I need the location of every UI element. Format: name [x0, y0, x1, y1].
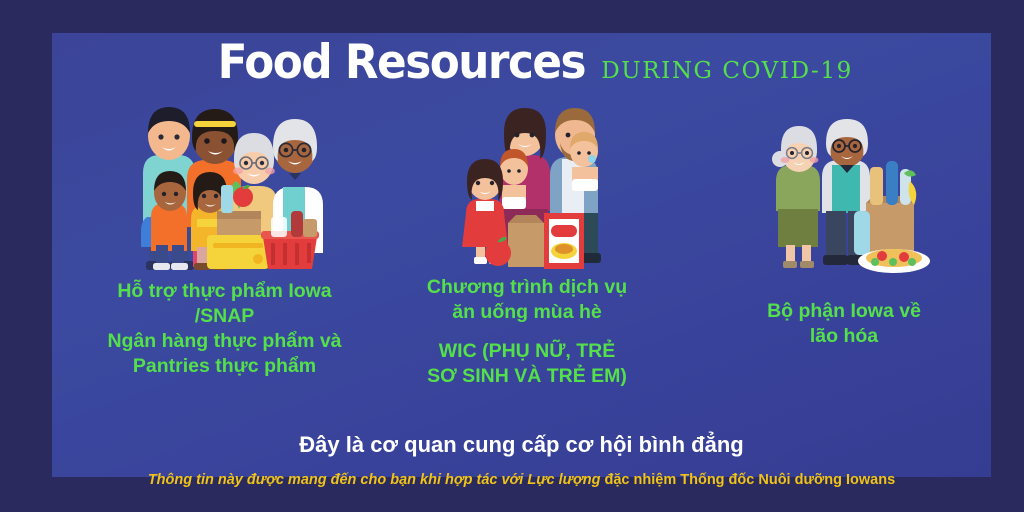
- caption-line: ăn uống mùa hè: [452, 301, 602, 323]
- poster-root: Food Resources DURING COVID-19: [0, 0, 1024, 512]
- caption-line: SƠ SINH VÀ TRẺ EM): [427, 365, 627, 387]
- caption-line: Chương trình dịch vụ: [427, 276, 627, 298]
- family-with-children-and-cereal-illustration: [432, 101, 622, 269]
- resource-caption-summer-meals: Chương trình dịch vụăn uống mùa hè: [377, 275, 677, 325]
- resource-column-aging: Bộ phận Iowa vềlão hóa: [697, 115, 991, 349]
- caption-line: WIC (PHỤ NỮ, TRẺ: [439, 340, 616, 362]
- equal-opportunity-statement: Đây là cơ quan cung cấp cơ hội bình đẳng: [52, 433, 991, 457]
- family-with-groceries-illustration: [125, 93, 325, 271]
- caption-line: Ngân hàng thực phẩm và: [107, 330, 341, 352]
- resource-caption-wic: WIC (PHỤ NỮ, TRẺSƠ SINH VÀ TRẺ EM): [377, 339, 677, 389]
- page-title: Food Resources: [218, 39, 585, 86]
- caption-line: Hỗ trợ thực phẩm Iowa: [117, 280, 331, 302]
- poster-header: Food Resources DURING COVID-19: [52, 39, 991, 86]
- resource-columns: Hỗ trợ thực phẩm Iowa/SNAPNgân hàng thực…: [52, 93, 991, 423]
- partnership-credit: Thông tin này được mang đến cho bạn khi …: [52, 473, 991, 489]
- partnership-credit-upright: đặc nhiệm Thống đốc Nuôi dưỡng Iowans: [605, 472, 896, 488]
- resource-caption-food-assistance: Hỗ trợ thực phẩm Iowa/SNAPNgân hàng thực…: [52, 279, 397, 379]
- senior-couple-with-grocery-bag-illustration: [754, 115, 934, 277]
- resource-column-food-assistance: Hỗ trợ thực phẩm Iowa/SNAPNgân hàng thực…: [52, 93, 397, 379]
- caption-line: Pantries thực phẩm: [133, 355, 316, 377]
- resource-column-summer-meals: Chương trình dịch vụăn uống mùa hè WIC (…: [377, 101, 677, 389]
- partnership-credit-italic: Thông tin này được mang đến cho bạn khi …: [148, 472, 605, 488]
- page-subtitle: DURING COVID-19: [601, 60, 853, 83]
- caption-line: Bộ phận Iowa về: [767, 300, 921, 322]
- caption-line: /SNAP: [195, 305, 255, 327]
- caption-line: lão hóa: [810, 325, 878, 347]
- poster-panel: Food Resources DURING COVID-19: [52, 33, 991, 477]
- resource-caption-aging: Bộ phận Iowa vềlão hóa: [697, 299, 991, 349]
